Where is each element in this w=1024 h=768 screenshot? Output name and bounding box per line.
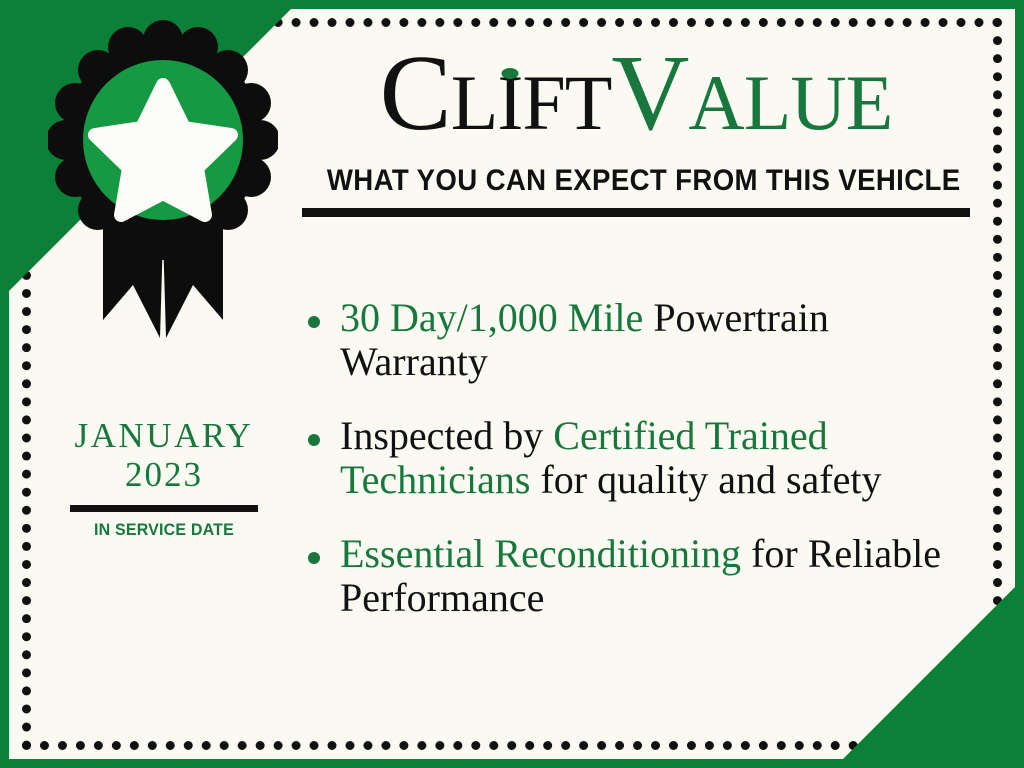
benefit-1-highlight: 30 Day/1,000 Mile [340,295,643,340]
wordmark-clift-i-group: I [497,64,522,142]
wordmark-clift-l: L [451,59,498,146]
benefit-text-3: Essential Reconditioning for Reliable Pe… [340,532,968,620]
service-date-underline [70,505,258,512]
benefit-2-prefix: Inspected by [340,413,553,458]
bullet-dot-icon [308,552,320,564]
service-date-month: JANUARY [58,418,270,455]
benefit-3-highlight: Essential Reconditioning [340,531,741,576]
subtitle-underline [302,208,970,217]
benefit-2-suffix: for quality and safety [530,457,881,502]
bullet-dot-icon [308,434,320,446]
in-service-date-block: JANUARY 2023 IN SERVICE DATE [58,418,270,540]
wordmark-clift-initial: C [380,34,451,153]
wordmark: CLIFTVALUE [300,40,972,148]
header: CLIFTVALUE WHAT YOU CAN EXPECT FROM THIS… [300,40,972,217]
subtitle: WHAT YOU CAN EXPECT FROM THIS VEHICLE [327,164,945,198]
list-item: 30 Day/1,000 Mile Powertrain Warranty [308,296,968,384]
list-item: Essential Reconditioning for Reliable Pe… [308,532,968,620]
service-date-caption: IN SERVICE DATE [64,520,263,540]
green-dot-accent [501,68,518,79]
bullet-dot-icon [308,316,320,328]
award-ribbon-star-icon [48,20,278,340]
benefits-list: 30 Day/1,000 Mile Powertrain Warranty In… [308,296,968,650]
list-item: Inspected by Certified Trained Technicia… [308,414,968,502]
benefit-text-2: Inspected by Certified Trained Technicia… [340,414,968,502]
benefit-text-1: 30 Day/1,000 Mile Powertrain Warranty [340,296,968,384]
wordmark-clift-ft: FT [522,59,611,146]
service-date-year: 2023 [58,455,270,495]
clift-value-certificate: CLIFTVALUE WHAT YOU CAN EXPECT FROM THIS… [0,0,1024,768]
wordmark-value-initial: V [611,34,688,153]
wordmark-value-rest: ALUE [688,59,892,146]
